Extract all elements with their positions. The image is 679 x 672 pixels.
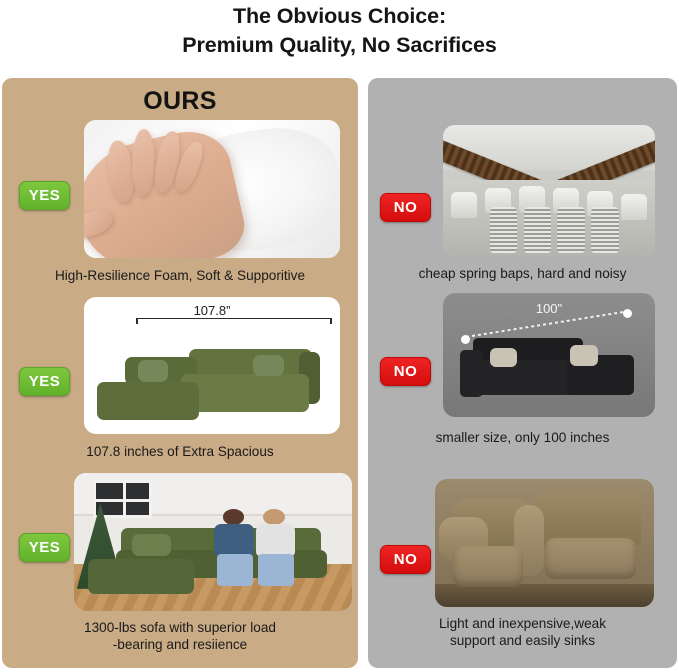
no-badge-size: NO [380,357,431,386]
dark-sofa-dimension-label: 100" [536,301,562,316]
green-sectional-sofa-dimension-photo: 107.8” [84,297,340,434]
thumb [84,207,116,244]
spring-4 [591,207,619,253]
theirs-panel: NO [368,78,677,668]
springs-image-card [443,125,655,256]
theirs-row-springs: NO [368,115,677,293]
pocket-1 [451,192,476,218]
dark-sofa-image-card: 100" [443,293,655,417]
page-title-line-2: Premium Quality, No Sacrifices [0,31,679,60]
yes-badge-size: YES [19,367,70,396]
hand-pressing-foam-photo [84,120,340,258]
pocket-6 [621,194,646,220]
spring-1 [490,207,518,253]
legs-right [258,554,295,586]
living-room-couple-on-green-sofa-photo [74,473,352,611]
comparison-panels: OURS YES High-Resilience Foam, Soft & [0,78,679,670]
head-right [263,509,285,525]
ours-row-foam: YES High-Resilience Foam, Soft & Suppori… [2,115,358,293]
dark-sectional-sofa-dimension-photo: 100" [443,293,655,417]
size-caption: 107.8 inches of Extra Spacious [2,439,358,460]
dark-sofa-dimension-label-wrap: 100" [443,301,655,316]
size-caption-line-1: 107.8 inches of Extra Spacious [2,443,358,460]
spring-3 [557,207,585,253]
leather-caption-line-1: Light and inexpensive,weak [368,615,677,632]
no-badge-springs: NO [380,193,431,222]
load-caption: 1300-lbs sofa with superior load -bearin… [2,615,358,653]
lifestyle-image-card [74,473,352,611]
ours-row-load: YES [2,471,358,668]
load-caption-line-1: 1300-lbs sofa with superior load [2,619,358,636]
foam-caption: High-Resilience Foam, Soft & Supporitive [2,263,358,284]
theirs-header [368,78,677,115]
dark-size-caption: smaller size, only 100 inches [368,425,677,446]
sofa-pillow-right [253,355,284,377]
leather-floor [435,584,654,607]
load-caption-line-2: -bearing and resiience [2,636,358,653]
sofa-pillow-left [138,360,169,382]
foam-image-card [84,120,340,258]
torso-left [214,524,254,556]
sofa-seat-main [181,374,309,412]
yes-badge-foam: YES [19,181,70,210]
no-badge-leather: NO [380,545,431,574]
dark-size-caption-line-1: smaller size, only 100 inches [368,429,677,446]
yes-badge-load: YES [19,533,70,562]
dimension-dot-left [461,335,470,344]
green-sofa-image-card: 107.8” [84,297,340,434]
spring-2 [524,207,552,253]
legs-left [217,554,253,586]
ours-row-size: YES 107.8” 107.8 inc [2,293,358,471]
leather-seat-left [453,546,523,587]
leather-caption: Light and inexpensive,weak support and e… [368,611,677,649]
leather-image-card [435,479,654,607]
leather-caption-line-2: support and easily sinks [368,632,677,649]
theirs-row-leather: NO Light and inexpensive,weak support an… [368,471,677,668]
page-title-line-1: The Obvious Choice: [0,2,679,31]
torso-right [256,524,296,556]
green-sofa-dimension-label: 107.8” [187,303,238,318]
lifestyle-sofa-pillow [132,534,171,556]
person-right [252,509,299,589]
coil-spring-cutaway-photo [443,125,655,256]
page-title: The Obvious Choice: Premium Quality, No … [0,0,679,60]
finger-2 [132,130,155,198]
foam-caption-line-1: High-Resilience Foam, Soft & Supporitive [2,267,358,284]
coil-field [443,180,655,256]
ours-header: OURS [2,78,358,115]
brown-leather-sagging-sofa-photo [435,479,654,607]
lifestyle-sofa-chaise [88,559,194,595]
dark-sofa-pillow-right [570,345,598,366]
dark-sofa-pillow-left [490,348,518,368]
sofa-chaise [97,382,199,420]
theirs-row-size: NO 100" smaller size [368,293,677,471]
leather-seat-right [545,538,637,579]
springs-caption: cheap spring baps, hard and noisy [368,261,677,282]
head-left [223,509,245,525]
person-left [210,509,257,589]
dimension-label-wrap: 107.8” [84,303,340,318]
ours-panel: OURS YES High-Resilience Foam, Soft & [2,78,358,668]
springs-caption-line-1: cheap spring baps, hard and noisy [368,265,677,282]
